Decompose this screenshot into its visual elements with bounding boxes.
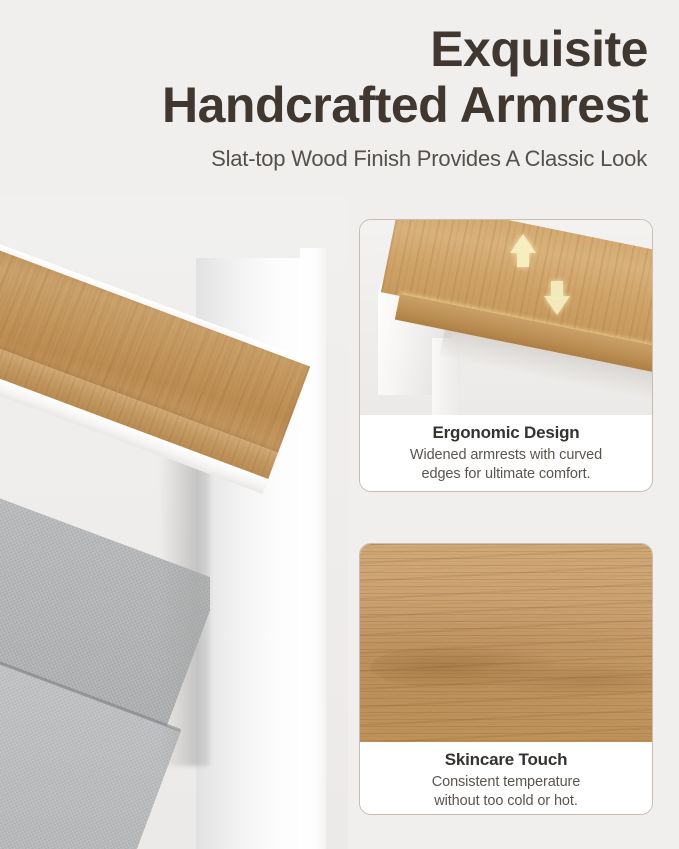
feature-card-title: Ergonomic Design bbox=[370, 423, 642, 443]
feature-card-title: Skincare Touch bbox=[370, 750, 642, 770]
arrow-down-icon bbox=[544, 296, 570, 315]
header: Exquisite Handcrafted Armrest Slat-top W… bbox=[0, 0, 679, 200]
feature-card-caption: Ergonomic Design Widened armrests with c… bbox=[360, 415, 652, 492]
sofa-back-panel-edge bbox=[300, 248, 326, 849]
arrow-up-icon bbox=[510, 234, 536, 253]
feature-card-desc-line-2: edges for ultimate comfort. bbox=[370, 465, 642, 483]
page-title-line-2: Handcrafted Armrest bbox=[162, 80, 648, 130]
product-feature-page: Exquisite Handcrafted Armrest Slat-top W… bbox=[0, 0, 679, 849]
page-title-line-1: Exquisite bbox=[430, 24, 648, 74]
feature-card-caption: Skincare Touch Consistent temperature wi… bbox=[360, 742, 652, 815]
feature-card-ergonomic-design: Ergonomic Design Widened armrests with c… bbox=[359, 219, 653, 492]
feature-card-media-armrest-corner bbox=[360, 220, 652, 415]
arrow-up-stem-icon bbox=[517, 252, 529, 267]
page-subtitle: Slat-top Wood Finish Provides A Classic … bbox=[211, 146, 647, 172]
feature-card-skincare-touch: Skincare Touch Consistent temperature wi… bbox=[359, 543, 653, 815]
feature-card-media-wood-grain bbox=[360, 544, 652, 742]
feature-card-desc-line-1: Widened armrests with curved bbox=[370, 446, 642, 464]
feature-card-desc-line-2: without too cold or hot. bbox=[370, 792, 642, 810]
arrow-down-stem-icon bbox=[551, 281, 563, 297]
hero-product-photo bbox=[0, 196, 348, 849]
wood-grain-texture bbox=[360, 544, 652, 742]
feature-card-desc-line-1: Consistent temperature bbox=[370, 773, 642, 791]
